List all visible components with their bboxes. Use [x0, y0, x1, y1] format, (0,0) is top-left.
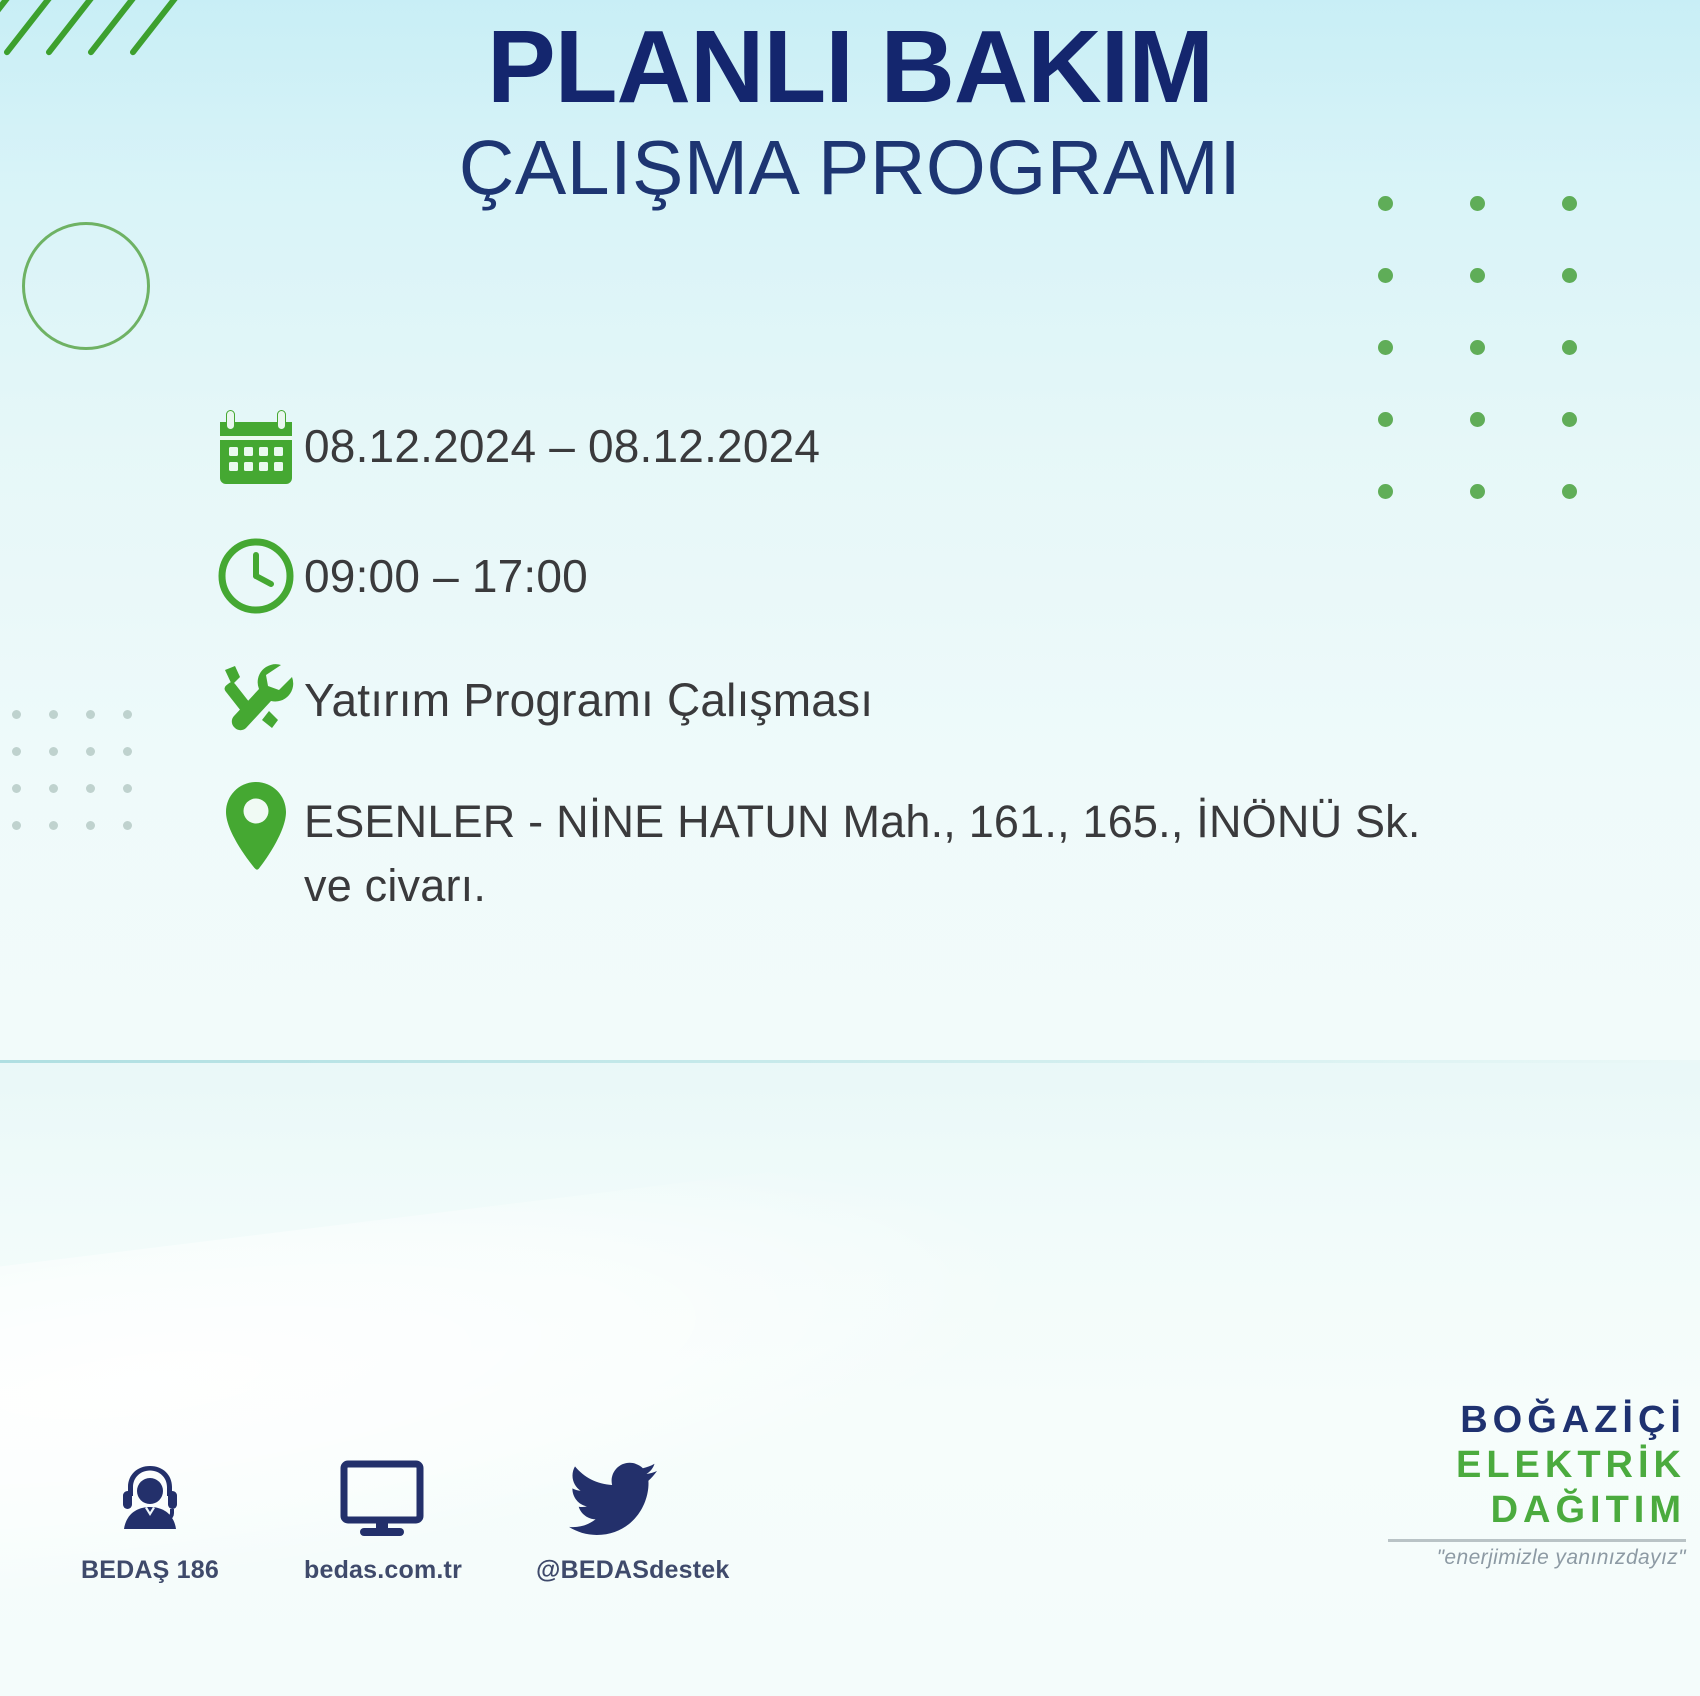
- detail-row-location: ESENLER - NİNE HATUN Mah., 161., 165., İ…: [208, 778, 1588, 918]
- footer-contact-list: BEDAŞ 186 bedas.com.tr @BEDASdestek: [72, 1452, 692, 1585]
- outage-details: 08.12.2024 – 08.12.2024 09:00 – 17:00: [208, 398, 1588, 958]
- location-pin-icon: [208, 778, 304, 874]
- dot-grid-decoration-left: [12, 710, 160, 858]
- tools-icon: [208, 652, 304, 748]
- outage-location: ESENLER - NİNE HATUN Mah., 161., 165., İ…: [304, 778, 1421, 918]
- poster-canvas: PLANLI BAKIM ÇALIŞMA PROGRAMI: [0, 0, 1700, 1696]
- footer-item-twitter[interactable]: @BEDASdestek: [536, 1452, 692, 1585]
- brand-logo: BOĞAZİÇİ ELEKTRİK DAĞITIM "enerjimizle y…: [1388, 1398, 1686, 1570]
- footer-label-twitter: @BEDASdestek: [536, 1556, 692, 1585]
- call-center-agent-icon: [72, 1452, 228, 1538]
- outage-work-type: Yatırım Programı Çalışması: [304, 652, 873, 731]
- poster-header: PLANLI BAKIM ÇALIŞMA PROGRAMI: [0, 14, 1700, 211]
- detail-row-time: 09:00 – 17:00: [208, 528, 1588, 624]
- calendar-icon: [208, 398, 304, 494]
- page-subtitle: ÇALIŞMA PROGRAMI: [0, 125, 1700, 211]
- detail-row-work-type: Yatırım Programı Çalışması: [208, 652, 1588, 748]
- circle-outline-decoration: [22, 222, 150, 350]
- outage-location-line2: ve civarı.: [304, 854, 1421, 918]
- detail-row-date: 08.12.2024 – 08.12.2024: [208, 398, 1588, 494]
- footer-item-website[interactable]: bedas.com.tr: [304, 1452, 460, 1585]
- outage-time-range: 09:00 – 17:00: [304, 528, 588, 607]
- outage-location-line1: ESENLER - NİNE HATUN Mah., 161., 165., İ…: [304, 790, 1421, 854]
- brand-logo-rule: [1388, 1539, 1686, 1542]
- clock-icon: [208, 528, 304, 624]
- footer-item-call-center[interactable]: BEDAŞ 186: [72, 1452, 228, 1585]
- outage-date-range: 08.12.2024 – 08.12.2024: [304, 398, 820, 477]
- page-title: PLANLI BAKIM: [0, 14, 1700, 119]
- brand-logo-line2: ELEKTRİK: [1388, 1443, 1686, 1488]
- footer-label-call-center: BEDAŞ 186: [72, 1556, 228, 1585]
- brand-logo-line3: DAĞITIM: [1388, 1488, 1686, 1533]
- brand-logo-line1: BOĞAZİÇİ: [1388, 1398, 1686, 1443]
- footer-label-website: bedas.com.tr: [304, 1556, 460, 1585]
- monitor-icon: [304, 1452, 460, 1538]
- twitter-bird-icon: [536, 1452, 692, 1538]
- brand-logo-tagline: "enerjimizle yanınızdayız": [1388, 1546, 1686, 1570]
